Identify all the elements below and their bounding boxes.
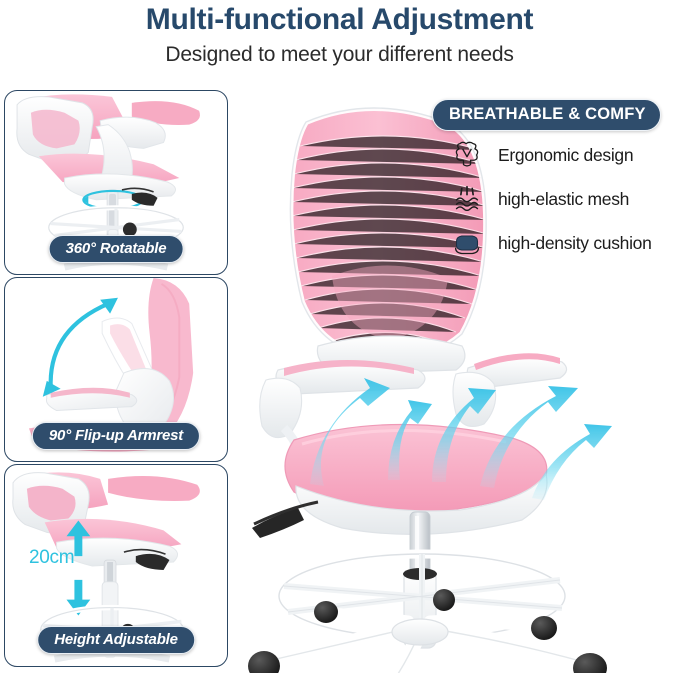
feature-label: high-density cushion	[498, 233, 652, 254]
feature-ergonomic-design: Ergonomic design	[448, 133, 679, 177]
panel-height-adjustable[interactable]: 20cm Height Adjustable	[4, 464, 228, 667]
breathable-waves-icon	[448, 182, 486, 216]
panel-flip-up-armrest[interactable]: 90° Flip-up Armrest	[4, 277, 228, 462]
badge-flip-up-armrest: 90° Flip-up Armrest	[32, 422, 200, 450]
feature-label: Ergonomic design	[498, 145, 633, 166]
footrest-adjust-knob	[433, 589, 455, 611]
feature-high-density-cushion: high-density cushion	[448, 221, 679, 265]
infographic-page: Multi-functional Adjustment Designed to …	[0, 0, 679, 673]
flip-up-arc-arrow-icon	[43, 298, 118, 397]
badge-height-adjustable: Height Adjustable	[37, 626, 195, 654]
cushion-icon	[448, 226, 486, 260]
badge-360-rotatable: 360° Rotatable	[49, 235, 184, 263]
height-range-label: 20cm	[29, 547, 74, 569]
cotton-boll-icon	[448, 138, 486, 172]
page-title: Multi-functional Adjustment	[0, 3, 679, 37]
breathable-comfy-badge: BREATHABLE & COMFY	[432, 99, 661, 131]
header: Multi-functional Adjustment Designed to …	[0, 0, 679, 88]
feature-list: Ergonomic design high-elastic mesh	[448, 133, 679, 265]
feature-high-elastic-mesh: high-elastic mesh	[448, 177, 679, 221]
page-subtitle: Designed to meet your different needs	[0, 43, 679, 67]
feature-label: high-elastic mesh	[498, 189, 629, 210]
panel-360-rotatable[interactable]: 360° Rotatable	[4, 90, 228, 275]
